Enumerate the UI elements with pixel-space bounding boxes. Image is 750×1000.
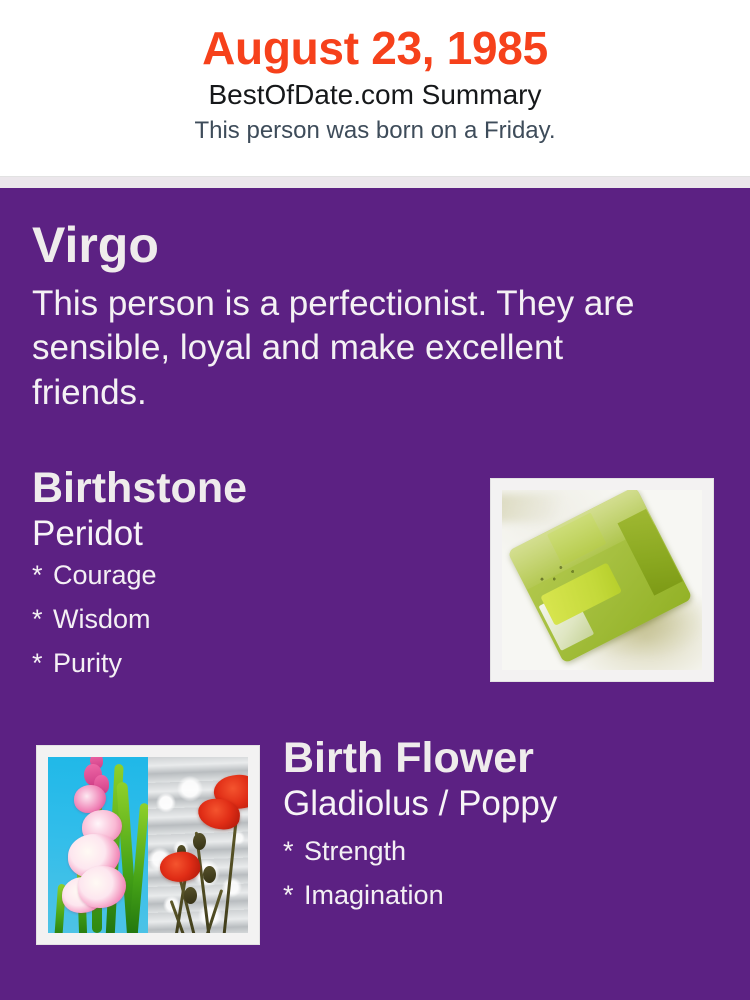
birth-flower-title: Birth Flower (283, 736, 723, 781)
birthstone-image (490, 478, 714, 682)
content-panel: Virgo This person is a perfectionist. Th… (0, 188, 750, 1000)
gladiolus-photo (48, 757, 148, 933)
zodiac-description: This person is a perfectionist. They are… (32, 270, 642, 415)
peridot-gemstone-photo (502, 490, 702, 670)
birth-flower-image (36, 745, 260, 945)
list-item: *Imagination (283, 882, 723, 926)
bullet-star-icon: * (283, 838, 304, 865)
list-item: *Courage (32, 562, 452, 606)
card-header: August 23, 1985 BestOfDate.com Summary T… (0, 0, 750, 176)
poppy-bud (203, 866, 216, 883)
summary-card: August 23, 1985 BestOfDate.com Summary T… (0, 0, 750, 1000)
birth-flower-trait-label: Strength (304, 836, 406, 866)
header-divider (0, 176, 750, 188)
poppy-bud (193, 833, 206, 850)
gem-inclusions (536, 556, 582, 591)
zodiac-section: Virgo This person is a perfectionist. Th… (32, 220, 692, 415)
birth-flower-trait-list: *Strength *Imagination (283, 824, 723, 926)
bullet-star-icon: * (32, 562, 53, 589)
site-subtitle: BestOfDate.com Summary (0, 72, 750, 111)
poppy-photo (148, 757, 248, 933)
list-item: *Purity (32, 650, 452, 694)
birthstone-name: Peridot (32, 511, 452, 554)
zodiac-sign-title: Virgo (32, 220, 692, 270)
bullet-star-icon: * (32, 606, 53, 633)
birth-flower-section: Birth Flower Gladiolus / Poppy *Strength… (283, 736, 723, 926)
birthstone-section: Birthstone Peridot *Courage *Wisdom *Pur… (32, 466, 452, 694)
page-title: August 23, 1985 (0, 0, 750, 72)
list-item: *Strength (283, 838, 723, 882)
list-item: *Wisdom (32, 606, 452, 650)
birth-flower-name: Gladiolus / Poppy (283, 781, 723, 824)
bullet-star-icon: * (32, 650, 53, 677)
bullet-star-icon: * (283, 882, 304, 909)
flower-diptych-photo (48, 757, 248, 933)
birthstone-trait-label: Purity (53, 648, 122, 678)
gem-backdrop-highlight (502, 494, 574, 523)
birthstone-trait-label: Wisdom (53, 604, 151, 634)
birth-flower-trait-label: Imagination (304, 880, 444, 910)
birthstone-title: Birthstone (32, 466, 452, 511)
birthstone-trait-label: Courage (53, 560, 157, 590)
born-day-note: This person was born on a Friday. (0, 111, 750, 144)
birthstone-trait-list: *Courage *Wisdom *Purity (32, 554, 452, 694)
